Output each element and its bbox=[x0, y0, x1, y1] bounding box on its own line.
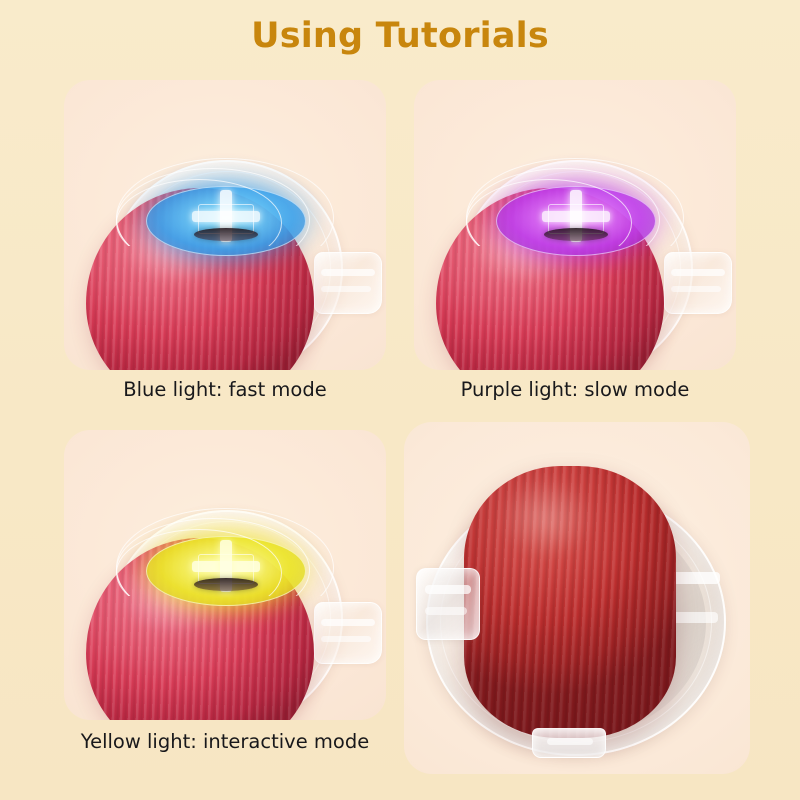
panel-grid: Blue light: fast mode bbox=[0, 76, 800, 800]
led-slot bbox=[194, 578, 258, 591]
page-title: Using Tutorials bbox=[251, 16, 549, 56]
clear-axle-icon bbox=[664, 252, 732, 314]
panel-image-blue bbox=[64, 80, 386, 370]
led-cap-purple bbox=[486, 178, 666, 264]
caption-yellow-mode: Yellow light: interactive mode bbox=[26, 730, 424, 753]
led-cap-blue bbox=[136, 178, 316, 264]
caption-blue-mode: Blue light: fast mode bbox=[64, 378, 386, 401]
panel-image-purple bbox=[414, 80, 736, 370]
product-illustration-plain bbox=[404, 422, 750, 774]
clear-axle-icon bbox=[314, 602, 382, 664]
product-illustration-blue bbox=[64, 80, 386, 370]
led-slot bbox=[544, 228, 608, 241]
panel-purple-mode[interactable]: Purple light: slow mode bbox=[414, 80, 736, 440]
panel-product-overview[interactable] bbox=[404, 422, 750, 792]
caption-purple-mode: Purple light: slow mode bbox=[414, 378, 736, 401]
product-illustration-yellow bbox=[64, 430, 386, 720]
title-bar: Using Tutorials bbox=[0, 0, 800, 72]
ball-shading bbox=[464, 466, 676, 738]
panel-image-yellow bbox=[64, 430, 386, 720]
led-slot bbox=[194, 228, 258, 241]
tutorial-infographic: Using Tutorials bbox=[0, 0, 800, 800]
panel-image-product bbox=[404, 422, 750, 774]
product-illustration-purple bbox=[414, 80, 736, 370]
panel-blue-mode[interactable]: Blue light: fast mode bbox=[64, 80, 386, 440]
clear-hub-icon bbox=[416, 568, 480, 640]
clear-foot-icon bbox=[532, 728, 606, 758]
red-ribbed-ball-icon bbox=[464, 466, 676, 738]
clear-axle-icon bbox=[314, 252, 382, 314]
led-cap-yellow bbox=[136, 528, 316, 614]
panel-yellow-mode[interactable]: Yellow light: interactive mode bbox=[64, 430, 386, 792]
